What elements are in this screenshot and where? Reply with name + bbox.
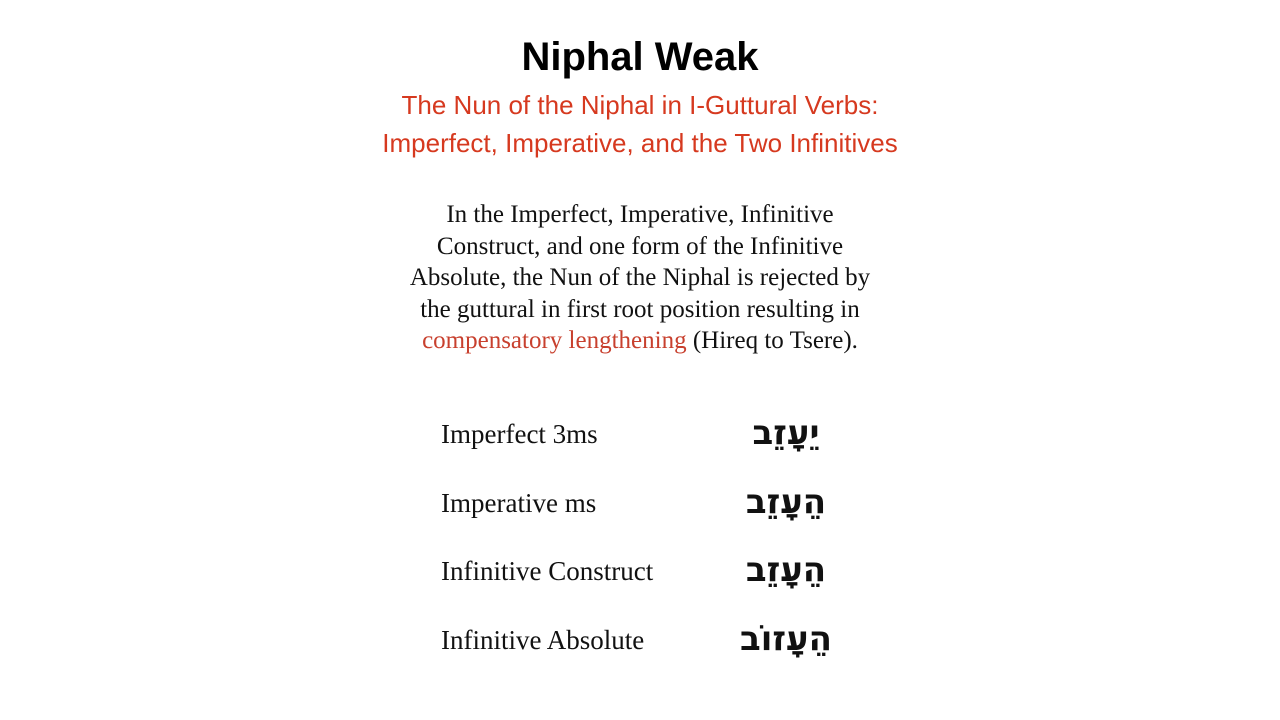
- body-line-2: Construct, and one form of the Infinitiv…: [340, 231, 940, 263]
- form-prefix-consonant: ה: [809, 619, 832, 659]
- paradigm-label-infinitive-absolute: Infinitive Absolute: [441, 620, 644, 660]
- form-rest: עָזֵב: [746, 482, 803, 522]
- form-rest: עָזֵב: [753, 413, 810, 453]
- form-prefix-consonant: ה: [803, 550, 826, 590]
- subtitle-line-1: The Nun of the Niphal in I-Guttural Verb…: [0, 86, 1280, 124]
- body-line-5-rest: (Hireq to Tsere).: [687, 327, 858, 354]
- table-row: Infinitive Construct הֵעָזֵב: [441, 551, 871, 620]
- body-line-4: the guttural in first root position resu…: [340, 294, 940, 326]
- body-line-3: Absolute, the Nun of the Niphal is rejec…: [340, 262, 940, 294]
- paradigm-label-imperfect-3ms: Imperfect 3ms: [441, 414, 598, 454]
- paradigm-label-infinitive-construct: Infinitive Construct: [441, 551, 653, 591]
- paradigm-form-imperfect-3ms: יֵעָזֵב: [701, 408, 871, 458]
- paradigm-label-imperative-ms: Imperative ms: [441, 483, 596, 523]
- paradigm-form-imperative-ms: הֵעָזֵב: [701, 477, 871, 527]
- slide-subtitle: The Nun of the Niphal in I-Guttural Verb…: [0, 86, 1280, 162]
- title-block: Niphal Weak The Nun of the Niphal in I-G…: [0, 32, 1280, 162]
- body-line-1: In the Imperfect, Imperative, Infinitive: [340, 199, 940, 231]
- form-rest: עָזוֹב: [740, 619, 809, 659]
- form-rest: עָזֵב: [746, 550, 803, 590]
- form-prefix-consonant: ה: [803, 482, 826, 522]
- compensatory-lengthening-highlight: compensatory lengthening: [422, 327, 687, 354]
- table-row: Infinitive Absolute הֵעָזוֹב: [441, 620, 871, 689]
- paradigm-table: Imperfect 3ms יֵעָזֵב Imperative ms הֵעָ…: [441, 414, 871, 688]
- subtitle-line-2: Imperfect, Imperative, and the Two Infin…: [0, 124, 1280, 162]
- page-title: Niphal Weak: [0, 32, 1280, 82]
- paradigm-form-infinitive-construct: הֵעָזֵב: [701, 545, 871, 595]
- slide-canvas: Niphal Weak The Nun of the Niphal in I-G…: [0, 0, 1280, 720]
- form-prefix-consonant: י: [809, 413, 819, 453]
- table-row: Imperfect 3ms יֵעָזֵב: [441, 414, 871, 483]
- table-row: Imperative ms הֵעָזֵב: [441, 483, 871, 552]
- paradigm-form-infinitive-absolute: הֵעָזוֹב: [701, 614, 871, 664]
- body-paragraph: In the Imperfect, Imperative, Infinitive…: [340, 199, 940, 357]
- body-line-5: compensatory lengthening (Hireq to Tsere…: [340, 325, 940, 357]
